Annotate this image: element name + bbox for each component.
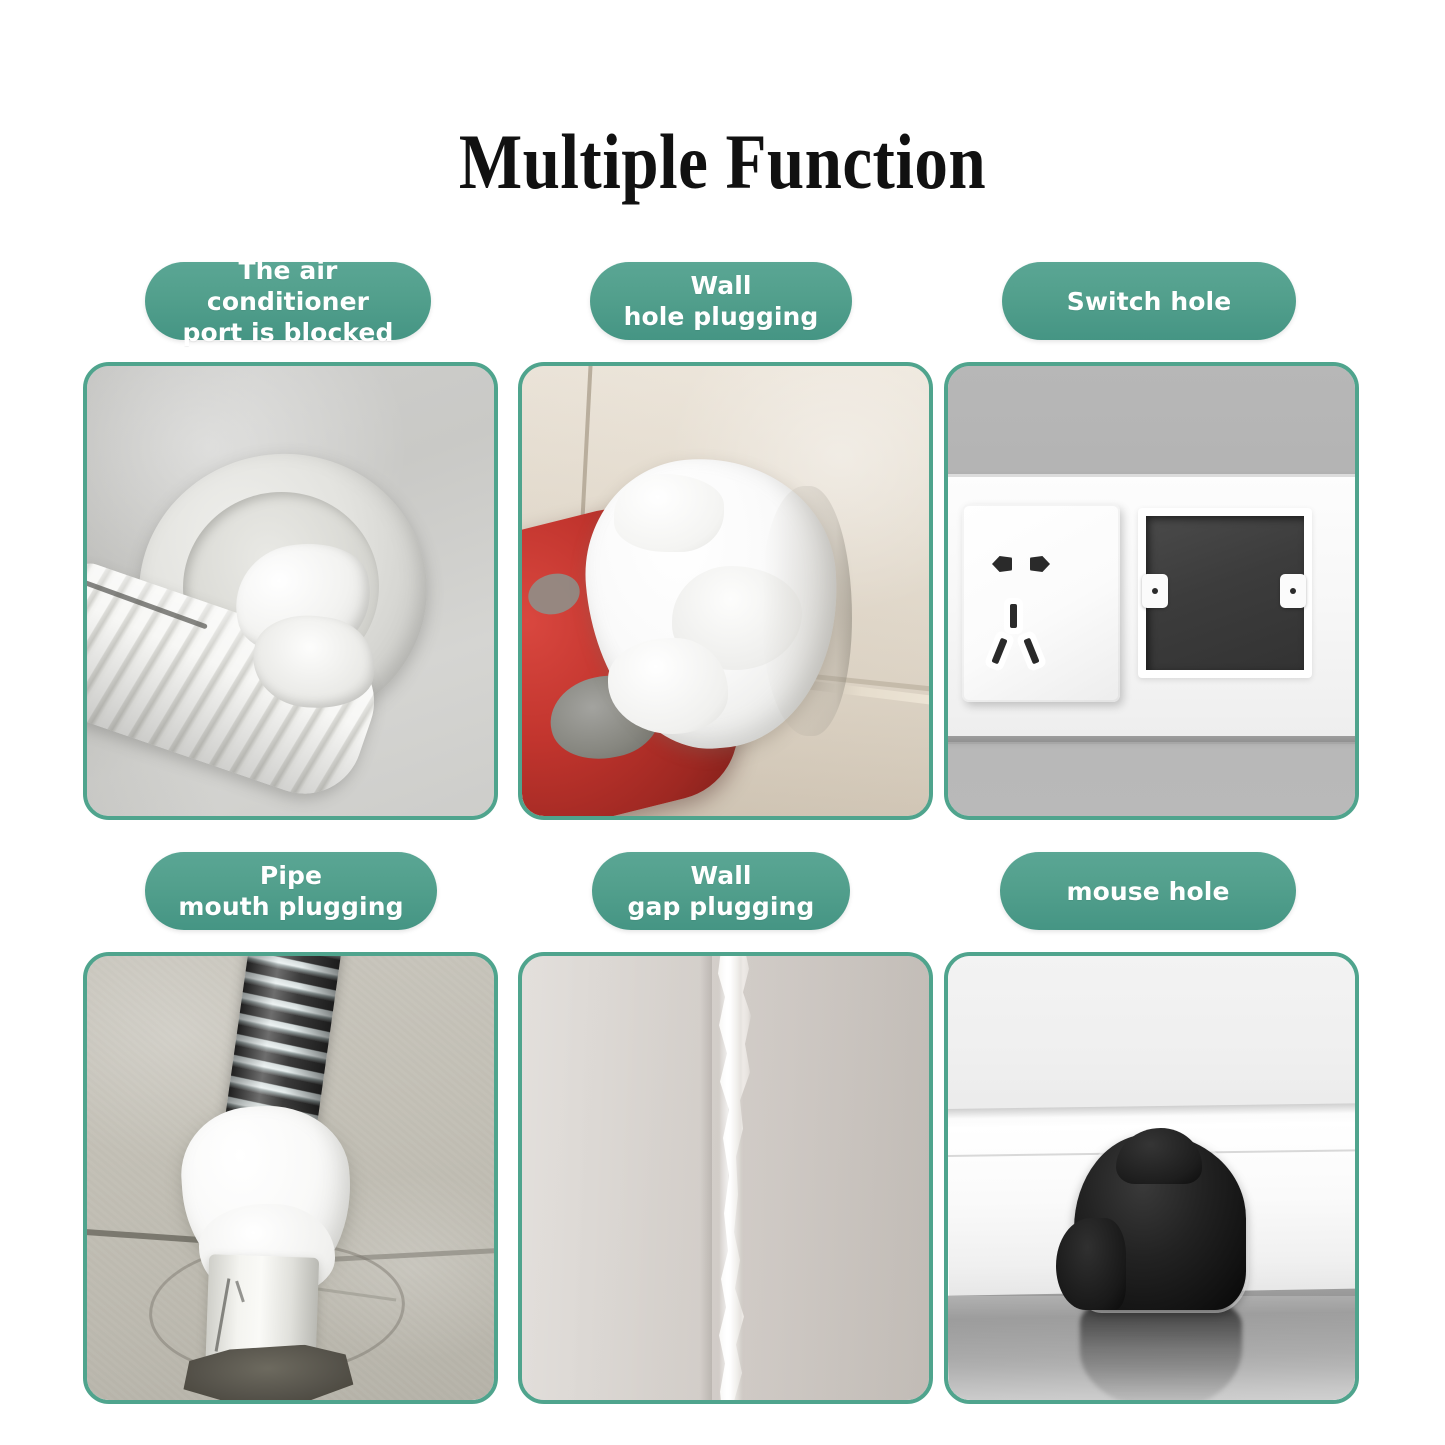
feature-photo-card[interactable] <box>518 362 933 820</box>
feature-label-wall-hole-plugging: Wall hole plugging <box>590 262 852 340</box>
photo-mouse-hole <box>948 956 1355 1400</box>
feature-card-wall-hole-plugging: Wall hole plugging <box>518 262 933 820</box>
switch-box-screw-tab-left <box>1142 574 1168 608</box>
feature-photo-card[interactable] <box>83 952 498 1404</box>
socket-pin-three-top <box>1010 604 1017 628</box>
black-foam-blob-side-lobe <box>1056 1218 1126 1310</box>
feature-photo-card[interactable] <box>944 362 1359 820</box>
panel-edge-top <box>948 474 1355 477</box>
foam-bead-shadow <box>700 956 712 1400</box>
feature-card-air-conditioner-port: The air conditioner port is blocked <box>83 262 498 820</box>
foam-lump-top <box>614 474 724 552</box>
foam-edge-shadow <box>762 486 852 736</box>
photo-wall-gap-plugging <box>522 956 929 1400</box>
foam-blob-reflection <box>1080 1304 1242 1400</box>
photo-wall-hole-plugging <box>522 366 929 816</box>
feature-grid: The air conditioner port is blocked Wall… <box>0 0 1445 1445</box>
wall-surface <box>948 956 1355 1128</box>
photo-air-conditioner-port <box>87 366 494 816</box>
feature-label-pipe-mouth-plugging: Pipe mouth plugging <box>145 852 437 930</box>
photo-pipe-mouth-plugging <box>87 956 494 1400</box>
feature-photo-card[interactable] <box>944 952 1359 1404</box>
wall-baseline <box>948 742 1355 744</box>
feature-label-switch-hole: Switch hole <box>1002 262 1296 340</box>
feature-card-mouse-hole: mouse hole <box>944 852 1359 1404</box>
photo-switch-hole <box>948 366 1355 816</box>
feature-card-wall-gap-plugging: Wall gap plugging <box>518 852 933 1404</box>
feature-photo-card[interactable] <box>83 362 498 820</box>
feature-card-pipe-mouth-plugging: Pipe mouth plugging <box>83 852 498 1404</box>
foam-bead-highlight <box>720 956 742 1400</box>
feature-label-mouse-hole: mouse hole <box>1000 852 1296 930</box>
power-socket-faceplate <box>962 504 1120 702</box>
feature-photo-card[interactable] <box>518 952 933 1404</box>
feature-card-switch-hole: Switch hole <box>944 262 1359 820</box>
feature-label-air-conditioner-port: The air conditioner port is blocked <box>145 262 431 340</box>
switch-box-screw-tab-right <box>1280 574 1306 608</box>
feature-label-wall-gap-plugging: Wall gap plugging <box>592 852 850 930</box>
